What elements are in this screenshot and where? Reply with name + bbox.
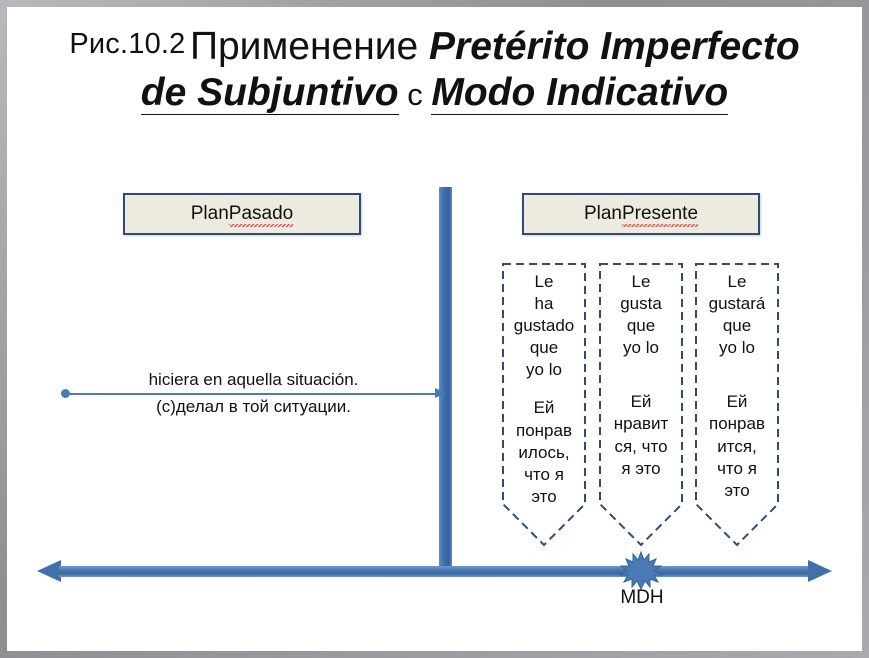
card1-es-3: que <box>501 337 587 359</box>
past-phrase-spanish: hiciera en aquella situación. <box>61 370 446 390</box>
present-card-1-text: Le ha gustado que yo lo Ей понрав илось,… <box>501 262 587 508</box>
card1-spacer <box>501 381 587 397</box>
present-card-2[interactable]: Le gusta que yo lo Ей нравит ся, что я э… <box>598 262 684 547</box>
card1-ru-3: что я <box>501 464 587 486</box>
card2-es-0: Le <box>598 271 684 293</box>
title-conjunction: с <box>399 77 432 112</box>
card1-ru-0: Ей <box>501 397 587 419</box>
card2-spacer <box>598 359 684 375</box>
title-text-plain: Применение <box>190 25 429 68</box>
title-text-italic-2: de Subjuntivo <box>141 71 399 115</box>
present-card-3-text: Le gustará que yo lo Ей понрав ится, что… <box>694 262 780 502</box>
arrow-line <box>67 393 435 395</box>
timeline-axis <box>37 560 832 582</box>
moment-burst-icon <box>619 551 663 591</box>
present-card-1[interactable]: Le ha gustado que yo lo Ей понрав илось,… <box>501 262 587 547</box>
card1-es-2: gustado <box>501 315 587 337</box>
slide-frame: Рис.10.2 Применение Pretérito Imperfecto… <box>0 0 869 658</box>
timeline-arrow-right-icon <box>808 560 832 582</box>
card1-es-1: ha <box>501 293 587 315</box>
plan-presente-prefix: Plan <box>584 203 622 225</box>
card2-es-2: que <box>598 315 684 337</box>
card3-spacer-2 <box>694 375 780 391</box>
mdh-label: MDH <box>584 587 700 609</box>
card2-es-3: yo lo <box>598 337 684 359</box>
card1-es-0: Le <box>501 271 587 293</box>
title-line-2: de Subjuntivo с Modo Indicativo <box>7 71 862 115</box>
card3-ru-0: Ей <box>694 391 780 413</box>
figure-label: Рис.10.2 <box>69 28 185 60</box>
card1-ru-4: это <box>501 486 587 508</box>
card2-es-1: gusta <box>598 293 684 315</box>
card3-es-3: yo lo <box>694 337 780 359</box>
card3-es-2: que <box>694 315 780 337</box>
card3-es-0: Le <box>694 271 780 293</box>
card3-spacer <box>694 359 780 375</box>
timeline-bar <box>59 566 810 577</box>
card3-ru-2: ится, <box>694 436 780 458</box>
slide-canvas: Рис.10.2 Применение Pretérito Imperfecto… <box>7 7 862 651</box>
past-phrase-russian: (с)делал в той ситуации. <box>61 397 446 417</box>
plan-pasado-prefix: Plan <box>191 203 229 225</box>
card1-ru-1: понрав <box>501 420 587 442</box>
plan-pasado-keyword: Pasado <box>229 203 293 225</box>
present-card-3[interactable]: Le gustará que yo lo Ей понрав ится, что… <box>694 262 780 547</box>
card1-es-4: yo lo <box>501 359 587 381</box>
title-text-italic-1: Pretérito Imperfecto <box>429 25 800 68</box>
card2-spacer-2 <box>598 375 684 391</box>
past-duration-arrow <box>61 392 446 396</box>
title-line-1: Рис.10.2 Применение Pretérito Imperfecto <box>7 25 862 69</box>
timeline-arrow-left-icon <box>37 560 61 582</box>
card2-ru-1: нравит <box>598 413 684 435</box>
plan-pasado-box[interactable]: Plan Pasado <box>123 193 361 235</box>
card3-es-1: gustará <box>694 293 780 315</box>
card3-ru-3: что я <box>694 458 780 480</box>
card3-ru-1: понрав <box>694 413 780 435</box>
card1-ru-2: илось, <box>501 442 587 464</box>
card2-ru-3: я это <box>598 458 684 480</box>
page-title: Рис.10.2 Применение Pretérito Imperfecto… <box>7 25 862 116</box>
present-card-2-text: Le gusta que yo lo Ей нравит ся, что я э… <box>598 262 684 480</box>
plan-presente-box[interactable]: Plan Presente <box>522 193 760 235</box>
card3-ru-4: это <box>694 480 780 502</box>
card2-ru-0: Ей <box>598 391 684 413</box>
title-text-italic-3: Modo Indicativo <box>431 71 728 115</box>
card2-ru-2: ся, что <box>598 436 684 458</box>
plan-presente-keyword: Presente <box>622 203 698 225</box>
